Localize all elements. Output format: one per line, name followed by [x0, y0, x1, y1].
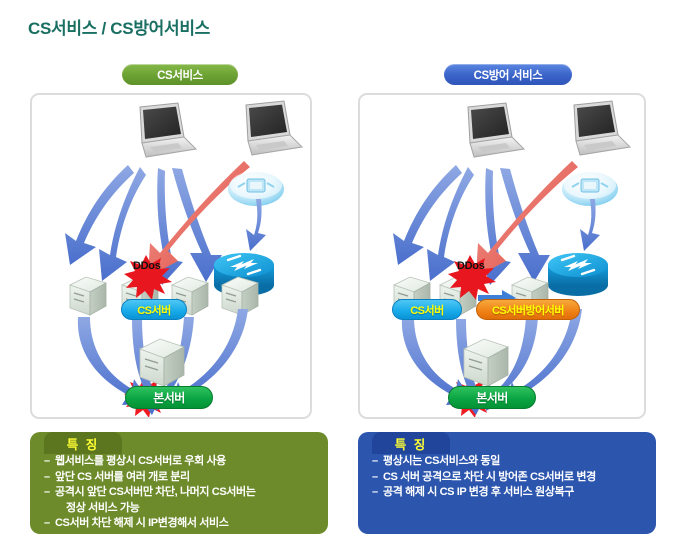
diagram-cs-service: DDos CS서버 본서버: [30, 93, 312, 419]
feature-tab-label: 특 징: [44, 432, 122, 454]
diagram-cs-defense-service: DDos CS서버 CS서버방어서버 본서버: [358, 93, 646, 419]
page-title: CS서비스 / CS방어서비스: [28, 14, 210, 39]
feature-item: 앞단 CS 서버를 여러 개로 분리: [44, 470, 316, 486]
feature-item: 공격시 앞단 CS서버만 차단, 나머지 CS서버는: [44, 485, 316, 501]
feature-item: 웹서비스를 평상시 CS서버로 우회 사용: [44, 454, 316, 470]
feature-item: CS 서버 공격으로 차단 시 방어존 CS서버로 변경: [372, 470, 644, 486]
feature-box-cs-defense-service: 특 징 평상시는 CS서비스와 동일 CS 서버 공격으로 차단 시 방어존 C…: [358, 432, 656, 534]
panel-cs-service: CS서비스: [30, 64, 330, 419]
feature-item-continuation: 정상 서비스 가능: [44, 501, 316, 517]
laptop-icon-1: [140, 103, 196, 157]
main-server-icon: [464, 339, 508, 386]
feature-tab-label: 특 징: [372, 432, 450, 454]
laptop-icon-1: [468, 103, 524, 157]
feature-item: 공격 해제 시 CS IP 변경 후 서비스 원상복구: [372, 485, 644, 501]
cs-defense-server-label[interactable]: CS서버방어서버: [476, 299, 580, 320]
main-server-icon: [140, 339, 184, 386]
cloud-icon: [228, 171, 284, 206]
arrow-cloud-router: [580, 199, 600, 251]
diagram-svg-cs-service: [32, 95, 310, 417]
server-icon-1: [70, 277, 106, 315]
cs-server-label[interactable]: CS서버: [392, 299, 462, 320]
feature-item: CS서버 차단 해제 시 IP변경해서 서비스: [44, 516, 316, 532]
main-server-label[interactable]: 본서버: [125, 386, 213, 409]
diagram-svg-cs-defense-service: [360, 95, 644, 417]
feature-box-cs-service: 특 징 웹서비스를 평상시 CS서버로 우회 사용 앞단 CS 서버를 여러 개…: [30, 432, 328, 534]
feature-list: 평상시는 CS서비스와 동일 CS 서버 공격으로 차단 시 방어존 CS서버로…: [372, 454, 644, 501]
laptop-icon-2: [574, 101, 630, 155]
feature-item: 평상시는 CS서비스와 동일: [372, 454, 644, 470]
cloud-icon: [562, 171, 618, 206]
panel-header-cs-defense-service[interactable]: CS방어 서비스: [444, 64, 572, 85]
arrow-cloud-router: [246, 199, 266, 251]
main-server-label[interactable]: 본서버: [448, 386, 536, 409]
panel-cs-defense-service: CS방어 서비스: [358, 64, 658, 419]
laptop-icon-2: [246, 101, 302, 155]
ddos-label: DDos: [133, 260, 161, 272]
router-icon: [548, 253, 608, 296]
feature-list: 웹서비스를 평상시 CS서버로 우회 사용 앞단 CS 서버를 여러 개로 분리…: [44, 454, 316, 532]
ddos-label: DDos: [457, 260, 485, 272]
panel-header-cs-service[interactable]: CS서비스: [122, 64, 238, 85]
cs-server-label[interactable]: CS서버: [121, 299, 187, 320]
